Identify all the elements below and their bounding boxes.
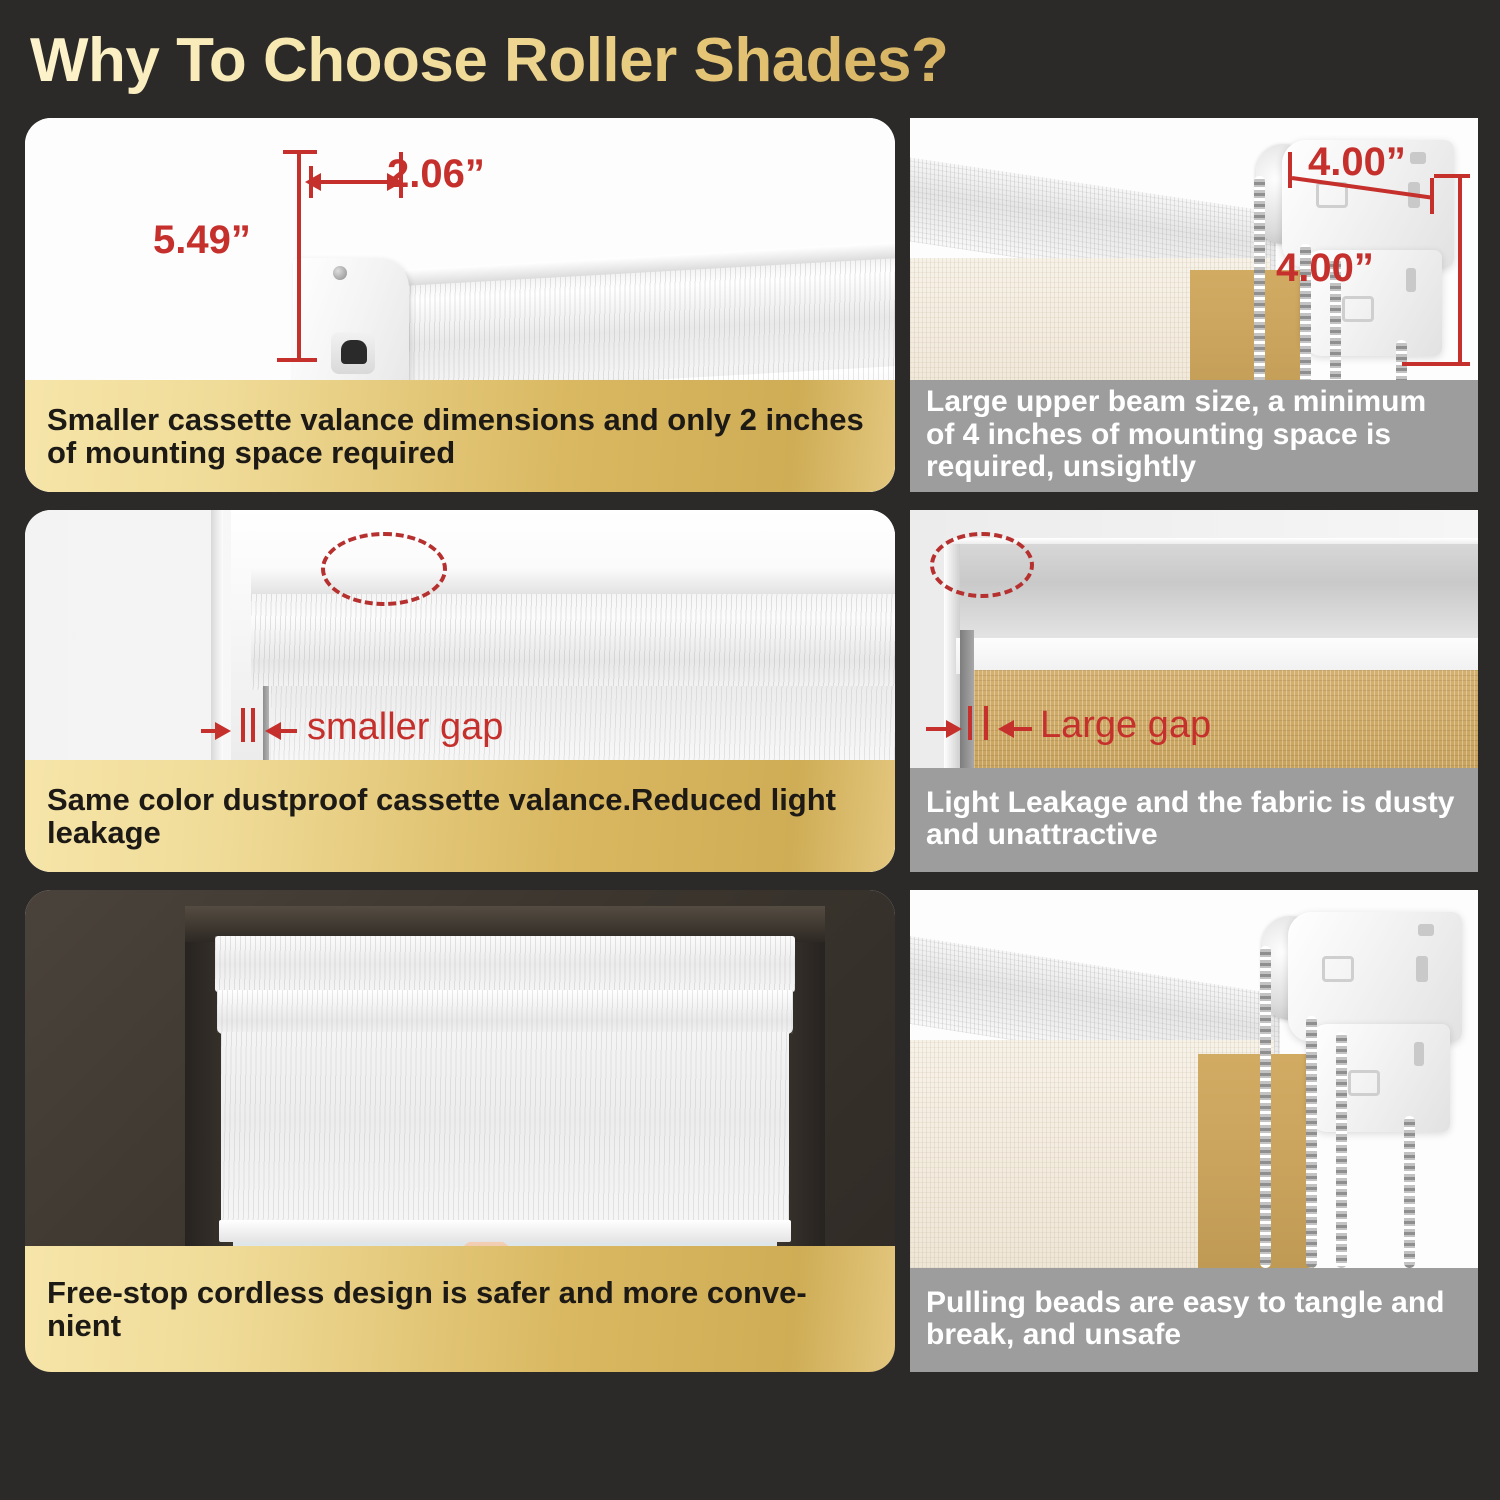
panel-smaller-cassette: 2.06” 5.49” Smaller cassette valance dim… (25, 118, 895, 492)
panel-1-caption-text: Smaller cassette valance dimensions and … (47, 403, 873, 470)
panel-5-caption-text: Free-stop cordless design is safer and m… (47, 1276, 873, 1343)
panel-4-caption: Light Leakage and the fabric is dusty an… (910, 768, 1478, 872)
beam-height-tick-top (1434, 174, 1470, 178)
beam-height-label: 4.00” (1276, 246, 1374, 291)
gap-tick-b (251, 708, 255, 742)
beam-height-dimension-line (1458, 174, 1462, 366)
gap-tick-b (984, 706, 988, 740)
beam-width-tick-left (1288, 152, 1292, 188)
panel-cordless-design: Free-stop cordless design is safer and m… (25, 890, 895, 1372)
panel-2-caption: Large upper beam size, a minimum of 4 in… (910, 380, 1478, 492)
bead-chain-1 (1260, 946, 1271, 1268)
large-gap-label: Large gap (1040, 704, 1211, 747)
smaller-gap-label: smaller gap (307, 706, 503, 749)
panel-6-caption: Pulling beads are easy to tangle and bre… (910, 1268, 1478, 1372)
panel-pulling-beads: Pulling beads are easy to tangle and bre… (910, 890, 1478, 1372)
gap-arrow-right-stem (1012, 727, 1032, 731)
panel-2-caption-text: Large upper beam size, a minimum of 4 in… (926, 386, 1462, 483)
panel-1-caption: Smaller cassette valance dimensions and … (25, 380, 895, 492)
gap-highlight-circle (930, 532, 1034, 598)
panel-5-caption: Free-stop cordless design is safer and m… (25, 1246, 895, 1372)
panel-large-upper-beam: 4.00” 4.00” Large upper beam size, a min… (910, 118, 1478, 492)
panel-dustproof-valance: smaller gap Same color dustproof cassett… (25, 510, 895, 872)
height-dimension-line (297, 150, 301, 362)
height-dimension-label: 5.49” (153, 218, 251, 263)
panel-3-caption: Same color dustproof cassette valance.Re… (25, 760, 895, 872)
bead-chain-4 (1404, 1116, 1415, 1268)
height-dimension-tick-top (283, 150, 317, 154)
beam-width-tick-right (1430, 178, 1434, 214)
panel-3-caption-text: Same color dustproof cassette valance.Re… (47, 783, 873, 850)
beam-width-label: 4.00” (1308, 140, 1406, 185)
gap-arrow-left-stem (926, 727, 950, 731)
height-dimension-tick-bottom (277, 358, 317, 362)
beam-height-tick-bottom (1402, 362, 1470, 366)
gap-highlight-circle (321, 532, 447, 606)
bead-chain-3 (1336, 1032, 1347, 1268)
panel-light-leakage: Large gap Light Leakage and the fabric i… (910, 510, 1478, 872)
width-arrow-left (305, 173, 321, 191)
width-dimension-label: 2.06” (387, 152, 485, 197)
gap-arrow-left-stem (201, 729, 219, 733)
gap-arrow-right-stem (279, 729, 297, 733)
gap-tick-a (241, 708, 245, 742)
panel-6-caption-text: Pulling beads are easy to tangle and bre… (926, 1287, 1462, 1352)
bead-chain-2 (1306, 1016, 1317, 1268)
page-title: Why To Choose Roller Shades? (30, 22, 1130, 100)
gap-tick-a (968, 706, 972, 740)
panel-4-caption-text: Light Leakage and the fabric is dusty an… (926, 787, 1462, 852)
